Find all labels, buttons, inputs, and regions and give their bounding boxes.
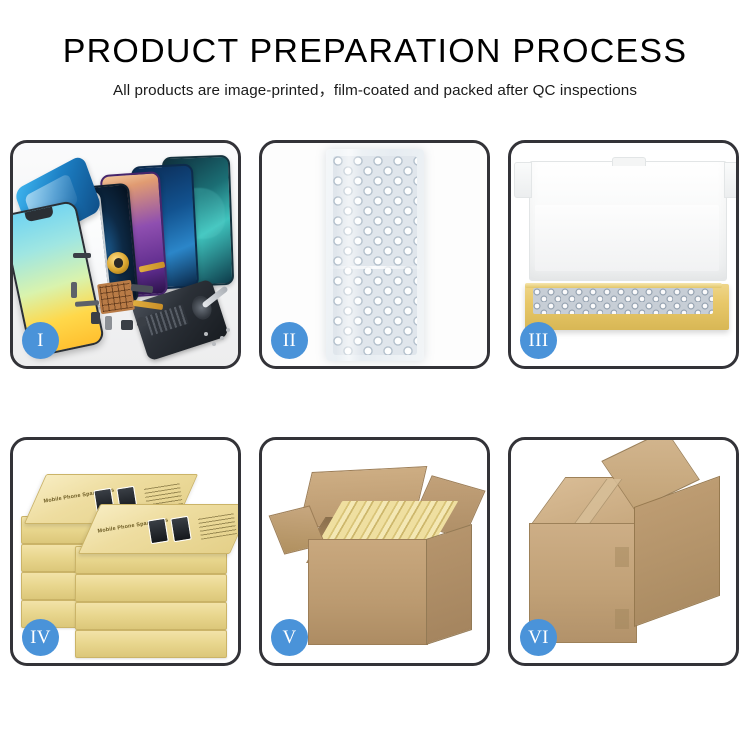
box-lid-tab xyxy=(612,157,645,166)
screw-part xyxy=(212,342,216,346)
flex-cable-part xyxy=(71,282,77,298)
process-step-panel-1[interactable]: I xyxy=(10,140,241,369)
carton-front-face xyxy=(308,539,428,645)
foam-insert xyxy=(535,205,719,271)
box-spec-lines xyxy=(198,512,237,539)
box-screen-graphic xyxy=(170,516,192,543)
step-badge-4: IV xyxy=(22,619,59,656)
bubble-wrap-pouch xyxy=(326,149,424,361)
spare-part-chip xyxy=(73,253,91,258)
process-step-panel-6[interactable]: VI xyxy=(508,437,739,666)
screw-part xyxy=(220,336,224,340)
copper-grid-board xyxy=(97,280,135,314)
bubble-wrap-texture xyxy=(333,156,417,355)
spare-part-chip xyxy=(91,312,100,324)
page-subtitle: All products are image-printed，film-coat… xyxy=(0,69,750,100)
step-badge-1: I xyxy=(22,322,59,359)
step-badge-3: III xyxy=(520,322,557,359)
retail-box-printed-top: Mobile Phone Spare Parts xyxy=(78,504,238,554)
spare-part-chip xyxy=(105,316,112,330)
process-step-grid: I II III xyxy=(10,140,740,685)
retail-box-edge xyxy=(75,602,227,630)
box-screen-graphic xyxy=(147,518,169,545)
step-badge-5: V xyxy=(271,619,308,656)
carton-seam-tab xyxy=(615,547,629,567)
process-step-panel-4[interactable]: Mobile Phone Spare Parts Mobile Phone Sp… xyxy=(10,437,241,666)
page-header: PRODUCT PREPARATION PROCESS All products… xyxy=(0,0,750,100)
process-step-panel-3[interactable]: III xyxy=(508,140,739,369)
retail-box-edge xyxy=(75,574,227,602)
retail-box-stack: Mobile Phone Spare Parts Mobile Phone Sp… xyxy=(19,470,235,646)
box-lid-fold-left xyxy=(514,162,532,198)
step-badge-6: VI xyxy=(520,619,557,656)
spare-part-chip xyxy=(137,317,146,326)
carton-seam-tab xyxy=(615,609,629,629)
bubble-wrapped-contents xyxy=(533,288,713,314)
box-lid-fold-right xyxy=(724,162,736,198)
screw-part xyxy=(226,328,230,332)
speaker-coil-part xyxy=(107,252,129,274)
pouch-seam xyxy=(330,266,420,269)
process-step-panel-5[interactable]: V xyxy=(259,437,490,666)
carton-side-face xyxy=(426,524,472,645)
process-step-panel-2[interactable]: II xyxy=(259,140,490,369)
spare-part-chip xyxy=(121,320,133,330)
step-badge-2: II xyxy=(271,322,308,359)
screw-part xyxy=(204,332,208,336)
page-title: PRODUCT PREPARATION PROCESS xyxy=(0,0,750,69)
retail-box-edge xyxy=(75,630,227,658)
